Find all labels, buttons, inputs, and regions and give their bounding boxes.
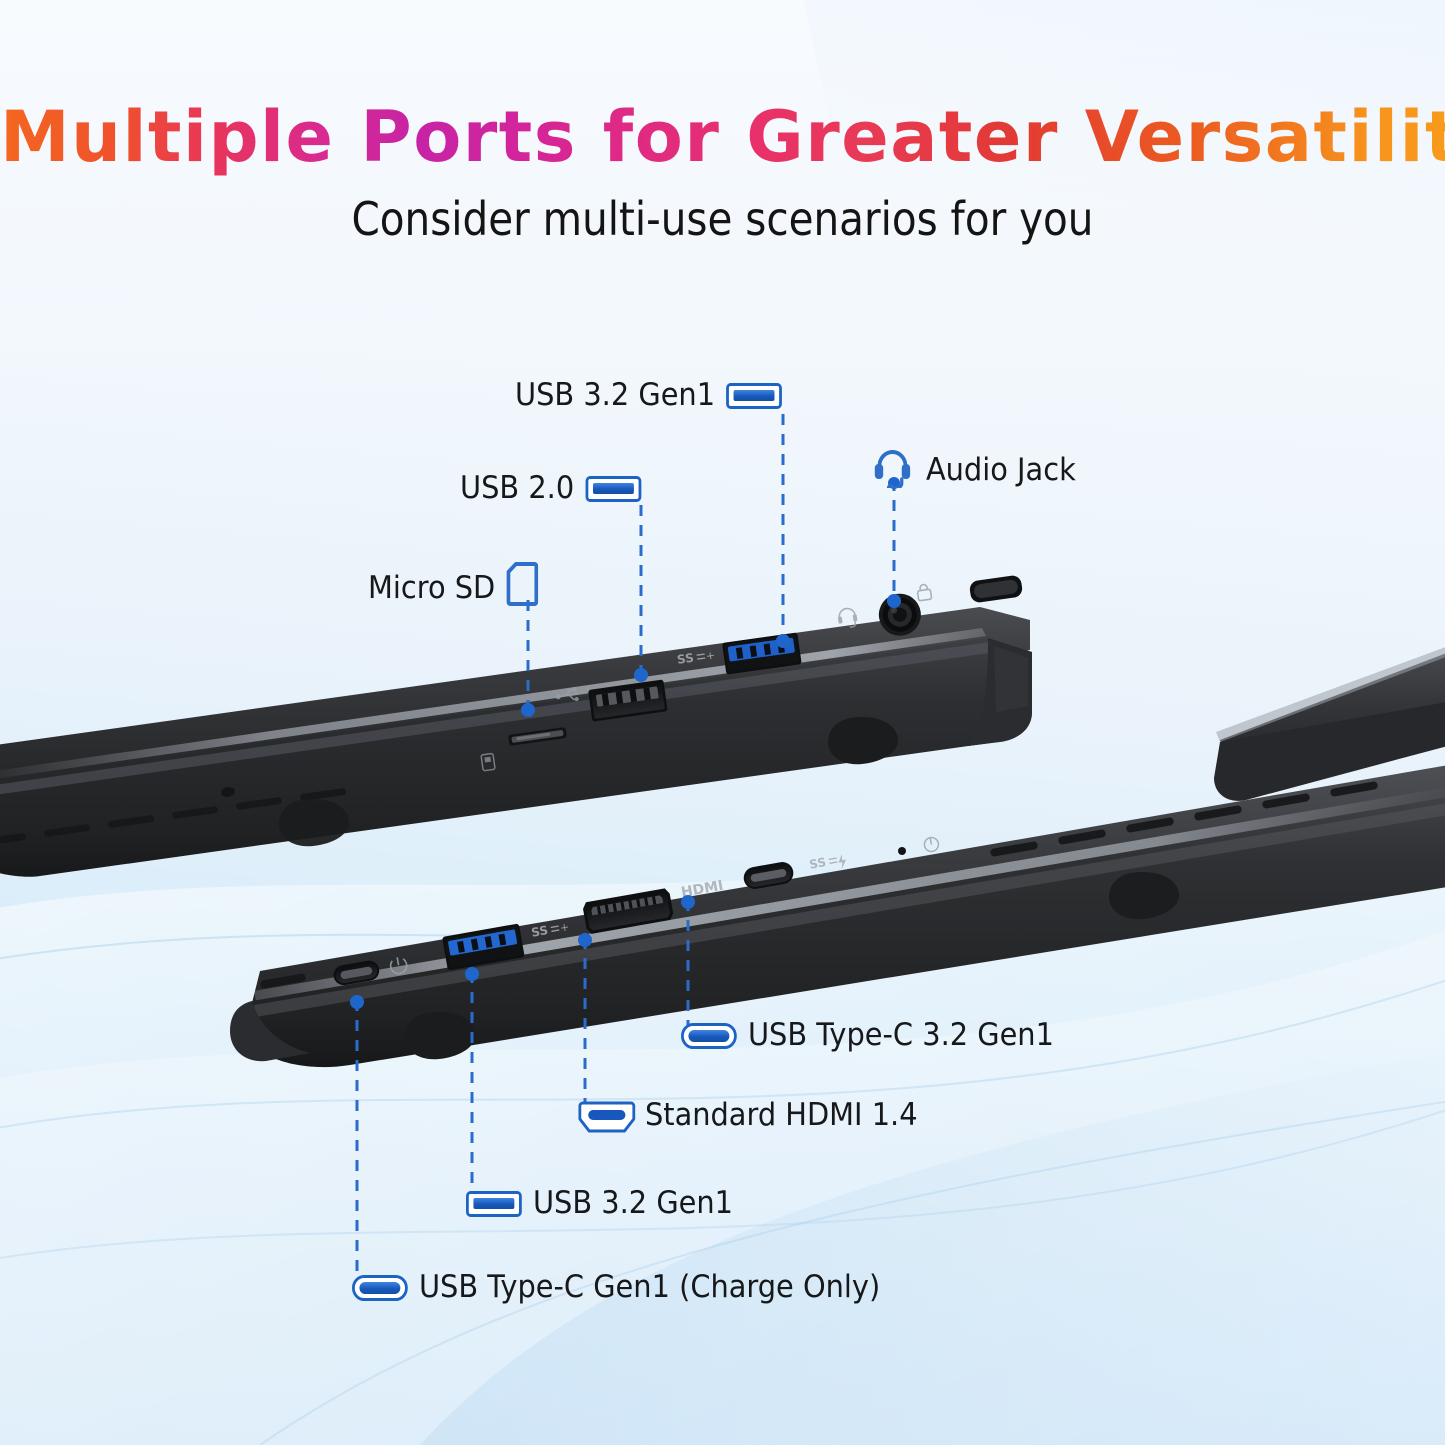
callout-audio-jack[interactable]: Audio Jack <box>872 444 1076 496</box>
callout-usb-type-c-charge-only[interactable]: USB Type-C Gen1 (Charge Only) <box>352 1272 880 1303</box>
callout-usb-20[interactable]: USB 2.0 <box>460 473 641 504</box>
callout-standard-hdmi[interactable]: Standard HDMI 1.4 <box>578 1100 918 1131</box>
headset-icon <box>872 444 915 496</box>
usb-type-c-port-icon <box>352 1275 408 1301</box>
callout-usb-32-gen1-bottom[interactable]: USB 3.2 Gen1 <box>466 1188 733 1219</box>
callout-label-text: USB 3.2 Gen1 <box>515 380 715 411</box>
callout-usb-type-c-32-gen1[interactable]: USB Type-C 3.2 Gen1 <box>681 1020 1054 1051</box>
callout-label-text: Audio Jack <box>926 455 1076 486</box>
leader-lines-bottom <box>0 0 1445 1445</box>
usb-a-port-icon <box>585 476 641 502</box>
hdmi-port-icon <box>578 1101 634 1131</box>
infographic-canvas: Multiple Ports for Greater Versatility M… <box>0 0 1445 1445</box>
callout-micro-sd[interactable]: Micro SD <box>368 562 538 614</box>
callout-label-text: Standard HDMI 1.4 <box>645 1100 918 1131</box>
callout-label-text: USB Type-C Gen1 (Charge Only) <box>419 1272 880 1303</box>
micro-sd-card-icon <box>506 562 538 614</box>
usb-a-port-icon <box>726 383 782 409</box>
usb-type-c-port-icon <box>681 1023 737 1049</box>
callout-label-text: USB 3.2 Gen1 <box>533 1188 733 1219</box>
callout-label-text: USB Type-C 3.2 Gen1 <box>748 1020 1054 1051</box>
usb-a-port-icon <box>466 1191 522 1217</box>
callout-label-text: USB 2.0 <box>460 473 574 504</box>
callout-label-text: Micro SD <box>368 573 495 604</box>
callout-usb-32-gen1-top[interactable]: USB 3.2 Gen1 <box>515 380 782 411</box>
